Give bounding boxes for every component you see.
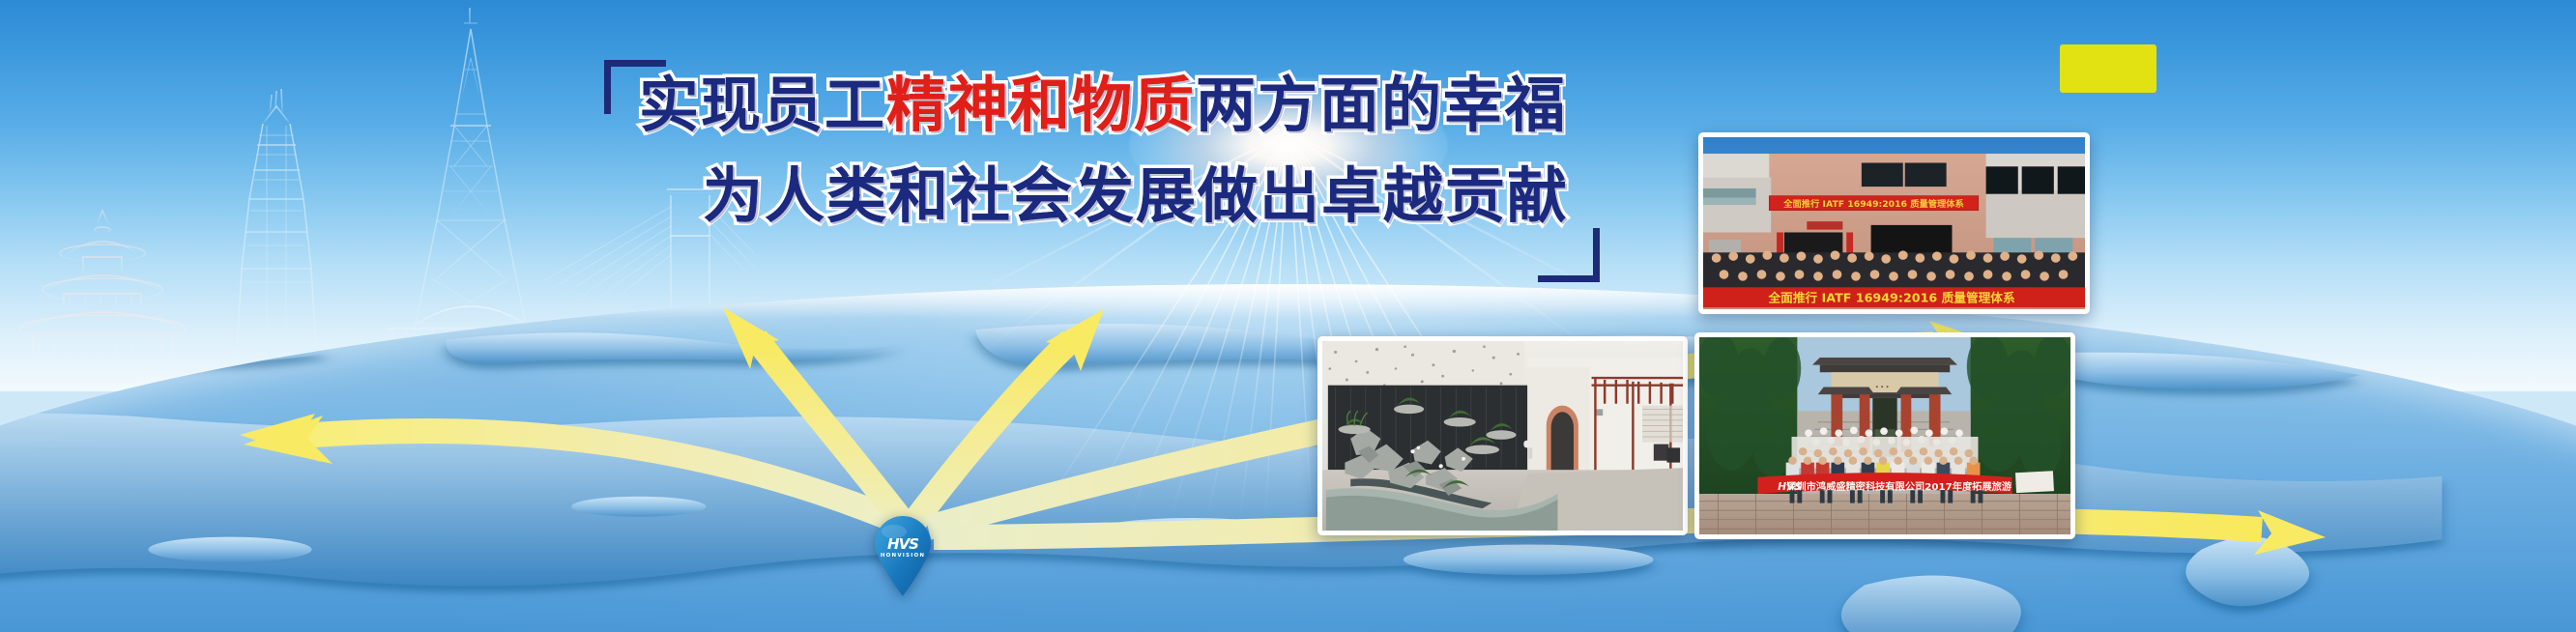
- map-pin-hvs[interactable]: HVS HONVISION: [873, 516, 933, 597]
- temple-of-heaven-icon: [10, 211, 195, 365]
- promo-banner: 实现员工精神和物质两方面的幸福 实现员工精神和物质两方面的幸福 为人类和社会发展…: [0, 0, 2576, 632]
- headline-line1-seg1-fill: 实现员工: [639, 70, 886, 140]
- headline-line1-seg3-fill: 两方面的幸福: [1196, 70, 1567, 140]
- headline-line1-seg2-fill: 精神和物质: [886, 70, 1196, 140]
- photo-iatf-bottom-banner: 全面推行 IATF 16949:2016 质量管理体系: [1703, 287, 2085, 307]
- photo-iatf-group[interactable]: 全面推行 IATF 16949:2016 质量管理体系: [1698, 132, 2090, 314]
- headline-line2-seg1-fill: 为人类和社会发展做出卓越贡献: [703, 160, 1569, 231]
- headline-block: 实现员工精神和物质两方面的幸福 实现员工精神和物质两方面的幸福 为人类和社会发展…: [604, 60, 1600, 282]
- photo-team-outing[interactable]: ．．．: [1694, 332, 2075, 539]
- corner-bracket-bottom-right-icon: [1538, 228, 1600, 282]
- photo-iatf-top-banner: 全面推行 IATF 16949:2016 质量管理体系: [1769, 196, 1979, 211]
- headline-line-1: 实现员工精神和物质两方面的幸福 实现员工精神和物质两方面的幸福: [639, 75, 1567, 135]
- svg-text:全面推行 IATF 16949:2016 质量管理体系: 全面推行 IATF 16949:2016 质量管理体系: [1767, 291, 2015, 305]
- svg-text:．．．: ．．．: [1874, 379, 1895, 390]
- jin-mao-tower-icon: [236, 89, 317, 365]
- yellow-accent-block: [2060, 44, 2156, 93]
- eiffel-tower-icon: [387, 8, 555, 365]
- svg-text:全面推行 IATF 16949:2016 质量管理体系: 全面推行 IATF 16949:2016 质量管理体系: [1782, 198, 1964, 210]
- photo-courtyard-garden[interactable]: [1317, 336, 1688, 535]
- headline-line-2: 为人类和社会发展做出卓越贡献 为人类和社会发展做出卓越贡献: [703, 166, 1569, 226]
